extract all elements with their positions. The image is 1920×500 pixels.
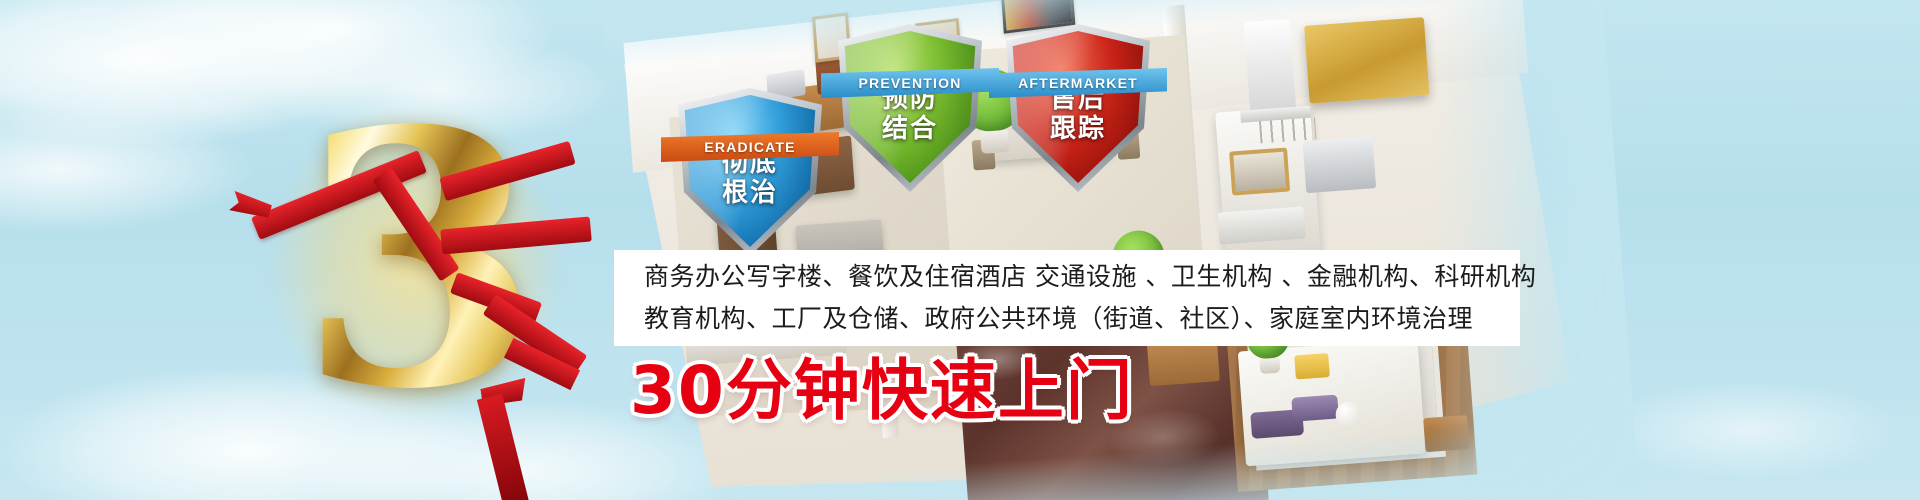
shield-badge-prevention: 预防 结合 PREVENTION	[835, 24, 985, 192]
oven	[1229, 147, 1290, 195]
gold-numeral-3: 3	[255, 95, 585, 435]
pillow	[1291, 394, 1339, 421]
shield-badge-group: 彻底 根治 ERADICATE 预防 结合 PREVENTION 售后 跟踪 A…	[655, 10, 1195, 190]
shield-chinese-line-2: 跟踪	[1003, 114, 1153, 144]
promo-banner: 3 彻底 根治 ERADICATE 预防 结	[0, 0, 1920, 500]
headline-text: 30分钟快速上门	[630, 352, 1134, 430]
gold-numeral-graphic: 3	[255, 95, 585, 435]
shield-chinese-line-2: 根治	[675, 178, 825, 208]
cooktop	[1218, 206, 1306, 244]
service-scope-line-2: 教育机构、工厂及仓储、政府公共环境（街道、社区）、家庭室内环境治理	[644, 298, 1512, 340]
service-scope-panel: 商务办公写字楼、餐饮及住宿酒店 交通设施 、卫生机构 、金融机构、科研机构 教育…	[614, 250, 1520, 346]
kitchen-sink	[1303, 136, 1377, 193]
shield-badge-aftermarket: 售后 跟踪 AFTERMARKET	[1003, 24, 1153, 192]
refrigerator	[1244, 19, 1297, 114]
hanging-utensils	[1259, 117, 1316, 143]
kitchen-wall-cabinet	[1304, 17, 1429, 104]
bed-cushion	[1294, 353, 1330, 379]
shield-chinese-line-2: 结合	[835, 114, 985, 144]
shield-badge-eradicate: 彻底 根治 ERADICATE	[675, 88, 825, 256]
nightstand	[1423, 415, 1469, 452]
service-scope-line-1: 商务办公写字楼、餐饮及住宿酒店 交通设施 、卫生机构 、金融机构、科研机构	[644, 256, 1512, 298]
